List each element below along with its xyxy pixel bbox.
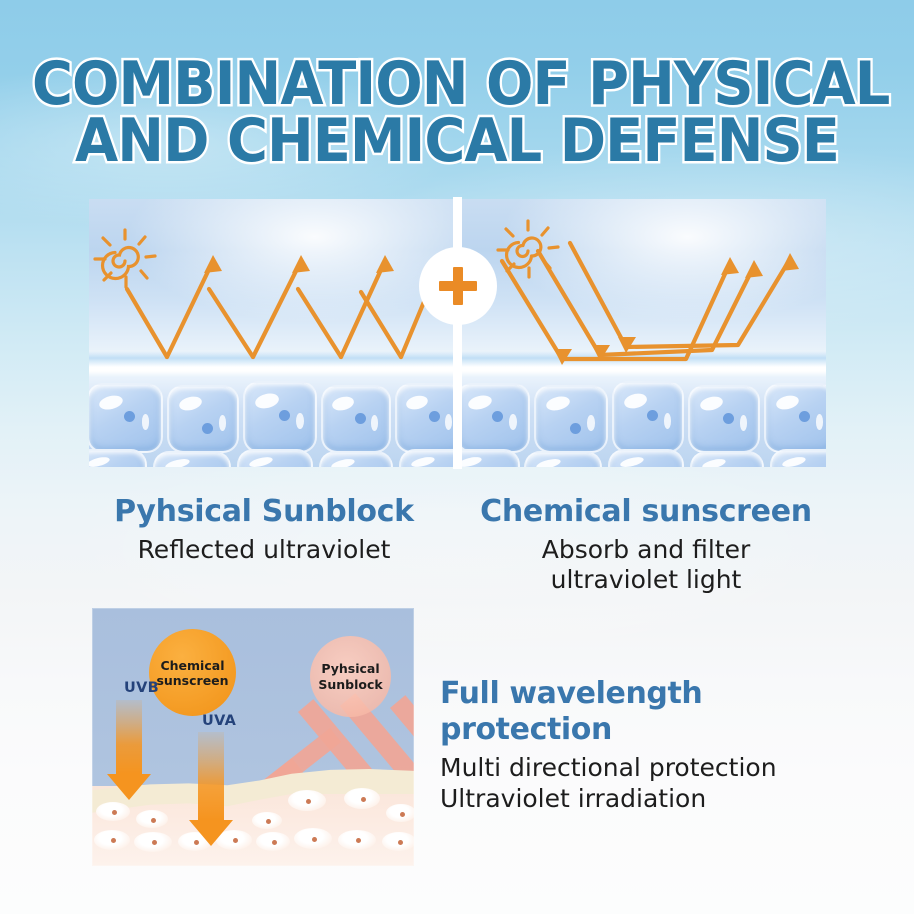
physical-sunblock-badge-label: Pyhsical Sunblock [318, 661, 382, 693]
physical-sunblock-panel [89, 199, 453, 467]
chemical-sunscreen-panel [462, 199, 826, 467]
skin-cell-row-right [462, 371, 826, 467]
feature-heading: Full wavelength protection [440, 676, 880, 748]
caption-physical-heading: Pyhsical Sunblock [89, 494, 439, 530]
chemical-sunscreen-badge: Chemical sunscreen [149, 629, 236, 716]
panel-divider-line [453, 197, 462, 469]
uvb-arrow-icon [116, 700, 142, 800]
caption-chemical: Chemical sunscreen Absorb and filter ult… [466, 494, 826, 595]
feature-body-line2: Ultraviolet irradiation [440, 784, 706, 813]
caption-chemical-heading: Chemical sunscreen [466, 494, 826, 530]
feature-body: Multi directional protection Ultraviolet… [440, 752, 880, 814]
caption-chemical-body: Absorb and filter ultraviolet light [466, 535, 826, 595]
absorbed-rays-illustration [462, 199, 826, 371]
sun-icon [95, 230, 155, 287]
skin-cell-row-left [89, 371, 453, 467]
full-wavelength-diagram: Chemical sunscreen Pyhsical Sunblock UVB… [92, 608, 414, 866]
title-line-2: AND CHEMICAL DEFENSE [32, 113, 882, 170]
caption-chemical-body-line2: ultraviolet light [551, 565, 742, 594]
uva-label: UVA [202, 713, 236, 729]
reflected-rays-illustration [89, 199, 453, 371]
caption-physical: Pyhsical Sunblock Reflected ultraviolet [89, 494, 439, 565]
feature-body-line1: Multi directional protection [440, 753, 777, 782]
uvb-label: UVB [124, 680, 159, 696]
plus-icon [439, 267, 477, 305]
plus-badge [419, 247, 497, 325]
physical-sunblock-badge: Pyhsical Sunblock [310, 636, 391, 717]
comparison-panels [89, 199, 826, 467]
page-title: COMBINATION OF PHYSICAL AND CHEMICAL DEF… [0, 56, 914, 170]
chemical-sunscreen-badge-label: Chemical sunscreen [156, 658, 228, 688]
caption-chemical-body-line1: Absorb and filter [542, 535, 751, 564]
feature-text-block: Full wavelength protection Multi directi… [440, 676, 880, 814]
uva-arrow-icon [198, 732, 224, 846]
caption-physical-body: Reflected ultraviolet [89, 535, 439, 565]
title-line-1: COMBINATION OF PHYSICAL [32, 56, 882, 113]
